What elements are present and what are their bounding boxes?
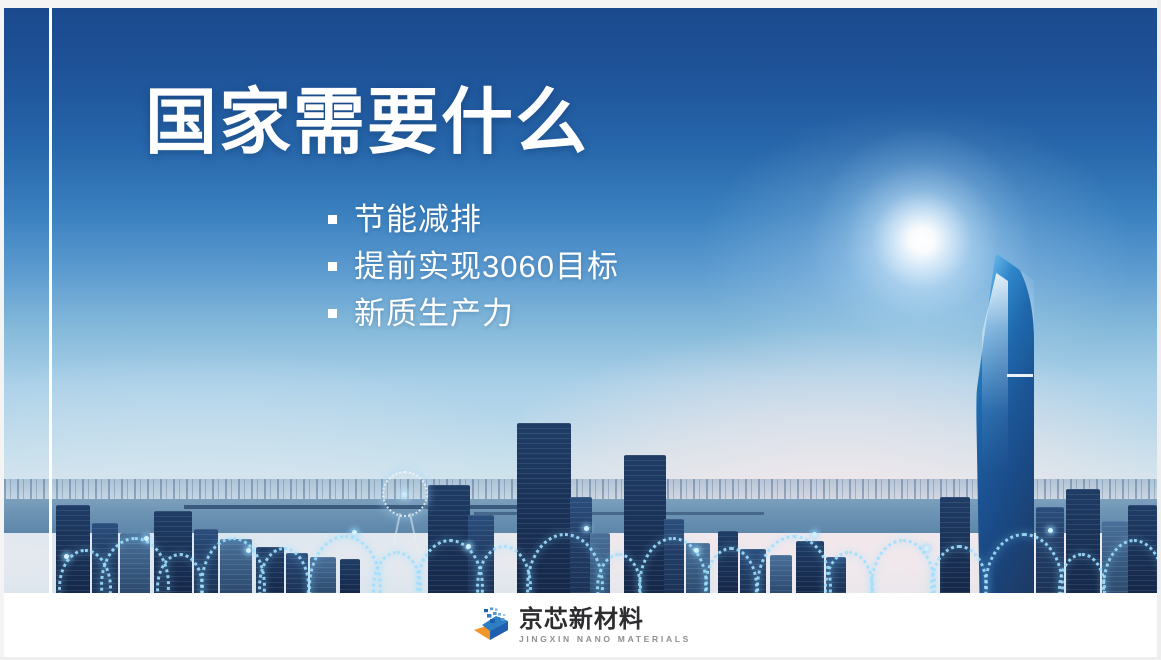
square-bullet-icon bbox=[328, 309, 337, 318]
light-dot bbox=[1048, 528, 1053, 533]
logo-name-cn: 京芯新材料 bbox=[519, 607, 691, 631]
list-item-label: 新质生产力 bbox=[354, 298, 514, 329]
light-trail-arc bbox=[200, 537, 266, 593]
list-item: 节能减排 bbox=[328, 196, 619, 243]
square-bullet-icon bbox=[328, 262, 337, 271]
company-logo: 京芯新材料 JINGXIN NANO MATERIALS bbox=[470, 606, 691, 644]
list-item-label: 提前实现3060目标 bbox=[354, 251, 619, 282]
list-item-label: 节能减排 bbox=[354, 204, 482, 235]
list-item: 新质生产力 bbox=[328, 290, 619, 337]
logo-name-en: JINGXIN NANO MATERIALS bbox=[519, 635, 691, 644]
light-dot bbox=[352, 530, 357, 535]
light-dot bbox=[694, 548, 699, 553]
light-trail-arc bbox=[258, 547, 310, 593]
bullet-list: 节能减排 提前实现3060目标 新质生产力 bbox=[328, 196, 619, 337]
page-margin-top bbox=[0, 0, 1161, 8]
page-title: 国家需要什么 bbox=[145, 86, 589, 162]
presentation-slide: 国家需要什么 节能减排 提前实现3060目标 新质生产力 bbox=[0, 0, 1161, 660]
light-dot bbox=[466, 544, 471, 549]
light-trail-arc bbox=[1058, 553, 1106, 593]
light-trail-group bbox=[4, 483, 1157, 593]
light-dot bbox=[924, 546, 929, 551]
light-trail-arc bbox=[476, 545, 532, 593]
light-dot bbox=[64, 554, 69, 559]
jingxin-pixel-mark-icon bbox=[470, 606, 510, 644]
light-trail-arc bbox=[756, 535, 832, 593]
light-trail-arc bbox=[372, 551, 422, 593]
light-trail-arc bbox=[1102, 539, 1157, 593]
light-trail-arc bbox=[596, 553, 642, 593]
light-trail-arc bbox=[526, 533, 604, 593]
slide-footer: 京芯新材料 JINGXIN NANO MATERIALS bbox=[4, 593, 1157, 657]
light-dot bbox=[246, 548, 251, 553]
logo-text-block: 京芯新材料 JINGXIN NANO MATERIALS bbox=[519, 607, 691, 644]
light-dot bbox=[584, 526, 589, 531]
light-trail-arc bbox=[930, 545, 988, 593]
light-trail-arc bbox=[824, 551, 874, 593]
light-trail-arc bbox=[704, 547, 758, 593]
page-margin-right bbox=[1157, 0, 1161, 660]
vertical-accent-line bbox=[49, 8, 52, 593]
skyscraper-light-band bbox=[1007, 374, 1033, 377]
list-item: 提前实现3060目标 bbox=[328, 243, 619, 290]
light-trail-arc bbox=[984, 533, 1064, 593]
light-dot bbox=[144, 536, 149, 541]
light-trail-arc bbox=[308, 535, 382, 593]
light-trail-arc bbox=[638, 537, 708, 593]
light-trail-arc bbox=[416, 539, 484, 593]
light-dot bbox=[812, 532, 817, 537]
page-margin-left bbox=[0, 0, 4, 660]
square-bullet-icon bbox=[328, 215, 337, 224]
